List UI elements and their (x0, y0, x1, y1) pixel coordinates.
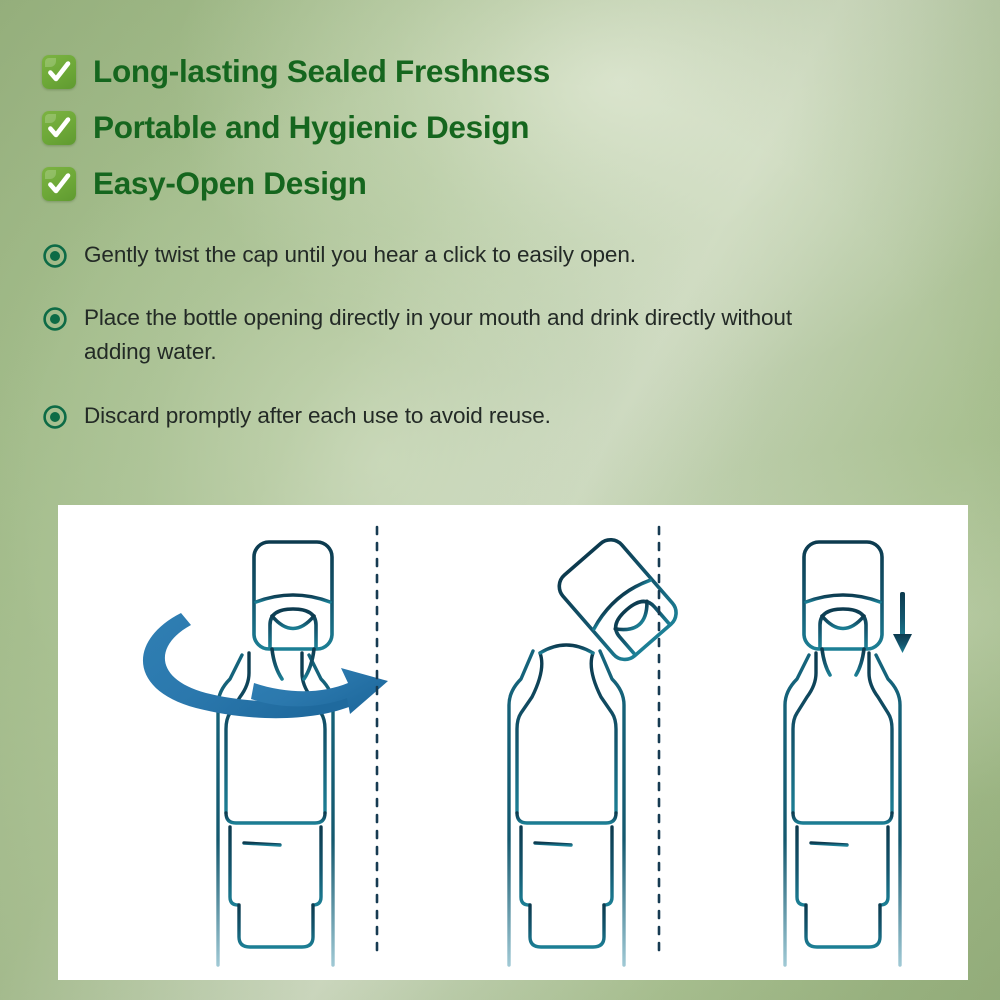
checkmark-box-icon (42, 167, 76, 201)
instruction-text: Place the bottle opening directly in you… (84, 301, 814, 369)
twist-cap-panel (143, 542, 388, 965)
reclose-cap-panel (785, 542, 912, 965)
instruction-list: Gently twist the cap until you hear a cl… (42, 238, 842, 462)
radio-dot-icon (42, 243, 68, 269)
down-arrow-icon (893, 592, 912, 653)
instruction-item: Gently twist the cap until you hear a cl… (42, 238, 842, 272)
instruction-item: Place the bottle opening directly in you… (42, 301, 842, 369)
illustration-card (58, 505, 968, 980)
radio-dot-icon (42, 306, 68, 332)
feature-label: Portable and Hygienic Design (93, 112, 529, 144)
instruction-text: Discard promptly after each use to avoid… (84, 399, 551, 433)
instruction-item: Discard promptly after each use to avoid… (42, 399, 842, 433)
checkmark-box-icon (42, 55, 76, 89)
remove-cap-panel (509, 534, 682, 965)
feature-list: Long-lasting Sealed Freshness Portable a… (42, 44, 942, 212)
feature-label: Long-lasting Sealed Freshness (93, 56, 550, 88)
feature-item: Portable and Hygienic Design (42, 100, 942, 156)
instruction-text: Gently twist the cap until you hear a cl… (84, 238, 636, 272)
radio-dot-icon (42, 404, 68, 430)
feature-item: Easy-Open Design (42, 156, 942, 212)
rotate-arrow-icon (143, 613, 388, 718)
checkmark-box-icon (42, 111, 76, 145)
infographic-page: Long-lasting Sealed Freshness Portable a… (0, 0, 1000, 1000)
feature-label: Easy-Open Design (93, 168, 367, 200)
feature-item: Long-lasting Sealed Freshness (42, 44, 942, 100)
